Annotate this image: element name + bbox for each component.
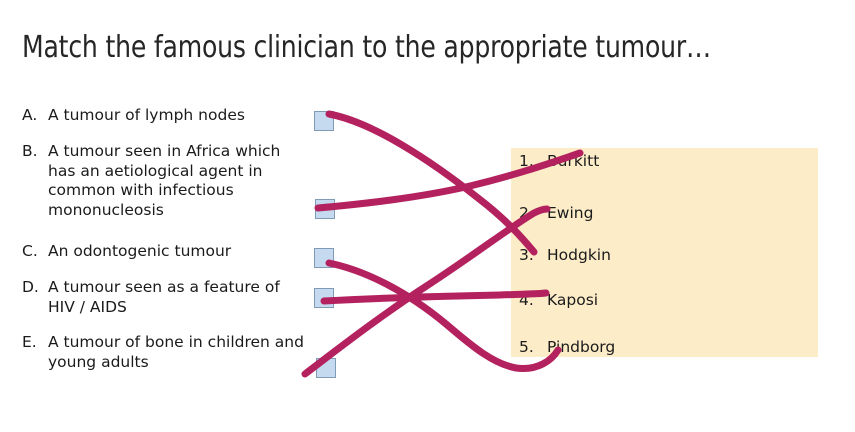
clue-item-e: E. A tumour of bone in children and youn…: [22, 333, 308, 372]
slide-canvas: Match the famous clinician to the approp…: [0, 0, 855, 432]
answer-item-2: 2. Ewing: [519, 204, 593, 223]
answer-number-3: 3.: [519, 246, 547, 265]
answer-name-1: Burkitt: [547, 152, 599, 171]
answer-name-2: Ewing: [547, 204, 593, 223]
answer-name-4: Kaposi: [547, 291, 598, 310]
clue-marker-c: C.: [22, 242, 48, 262]
answer-item-5: 5. Pindborg: [519, 338, 615, 357]
clue-marker-d: D.: [22, 278, 48, 298]
clue-text-c: An odontogenic tumour: [48, 242, 304, 262]
clue-marker-a: A.: [22, 106, 48, 126]
clue-item-d: D. A tumour seen as a feature of HIV / A…: [22, 278, 308, 317]
clue-item-c: C. An odontogenic tumour: [22, 242, 304, 262]
answer-item-1: 1. Burkitt: [519, 152, 599, 171]
answer-name-3: Hodgkin: [547, 246, 611, 265]
connector-stroke-a-to-hodgkin: [329, 114, 534, 252]
connector-box-c[interactable]: [314, 248, 334, 268]
answer-number-2: 2.: [519, 204, 547, 223]
clue-text-a: A tumour of lymph nodes: [48, 106, 304, 126]
page-title: Match the famous clinician to the approp…: [22, 30, 785, 65]
connector-box-d[interactable]: [314, 288, 334, 308]
clue-marker-b: B.: [22, 142, 48, 162]
connector-box-b[interactable]: [315, 199, 335, 219]
clue-text-e: A tumour of bone in children and young a…: [48, 333, 308, 372]
answer-number-1: 1.: [519, 152, 547, 171]
clue-item-b: B. A tumour seen in Africa which has an …: [22, 142, 310, 220]
answer-number-4: 4.: [519, 291, 547, 310]
clue-text-b: A tumour seen in Africa which has an aet…: [48, 142, 310, 220]
answer-item-4: 4. Kaposi: [519, 291, 598, 310]
clue-text-d: A tumour seen as a feature of HIV / AIDS: [48, 278, 308, 317]
clue-marker-e: E.: [22, 333, 48, 353]
answer-name-5: Pindborg: [547, 338, 615, 357]
connector-box-e[interactable]: [316, 358, 336, 378]
connector-box-a[interactable]: [314, 111, 334, 131]
answer-item-3: 3. Hodgkin: [519, 246, 611, 265]
answer-number-5: 5.: [519, 338, 547, 357]
clue-item-a: A. A tumour of lymph nodes: [22, 106, 304, 126]
